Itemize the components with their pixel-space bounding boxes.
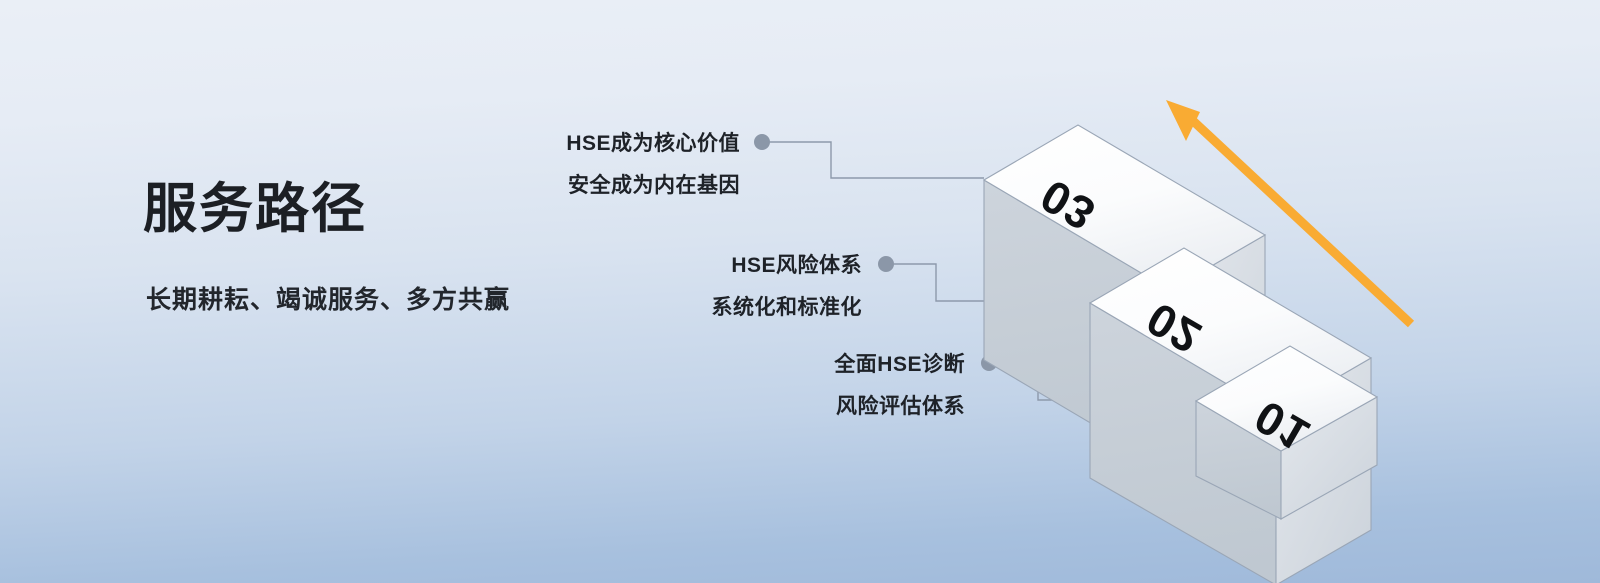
step-label-03: HSE成为核心价值 安全成为内在基因	[566, 131, 740, 197]
step-03-label-line2: 安全成为内在基因	[568, 173, 740, 197]
step-02-label-line1: HSE风险体系	[731, 253, 862, 277]
slide-canvas: 服务路径 长期耕耘、竭诚服务、多方共赢	[0, 0, 1600, 583]
step-01-label-line2: 风险评估体系	[836, 394, 965, 418]
step-03-label-line1: HSE成为核心价值	[566, 131, 740, 155]
connector-dot-icon	[878, 256, 894, 272]
connector-dot-icon	[754, 134, 770, 150]
step-label-02: HSE风险体系 系统化和标准化	[712, 253, 863, 319]
step-01-label-line1: 全面HSE诊断	[833, 352, 965, 376]
step-02-label-line2: 系统化和标准化	[712, 295, 863, 319]
step-label-01: 全面HSE诊断 风险评估体系	[833, 352, 965, 418]
connector-step-03	[754, 134, 984, 178]
isometric-staircase-diagram: 03 02 01 HSE成为核心价值 安全成为内在基因 HSE风险体系	[0, 0, 1600, 583]
